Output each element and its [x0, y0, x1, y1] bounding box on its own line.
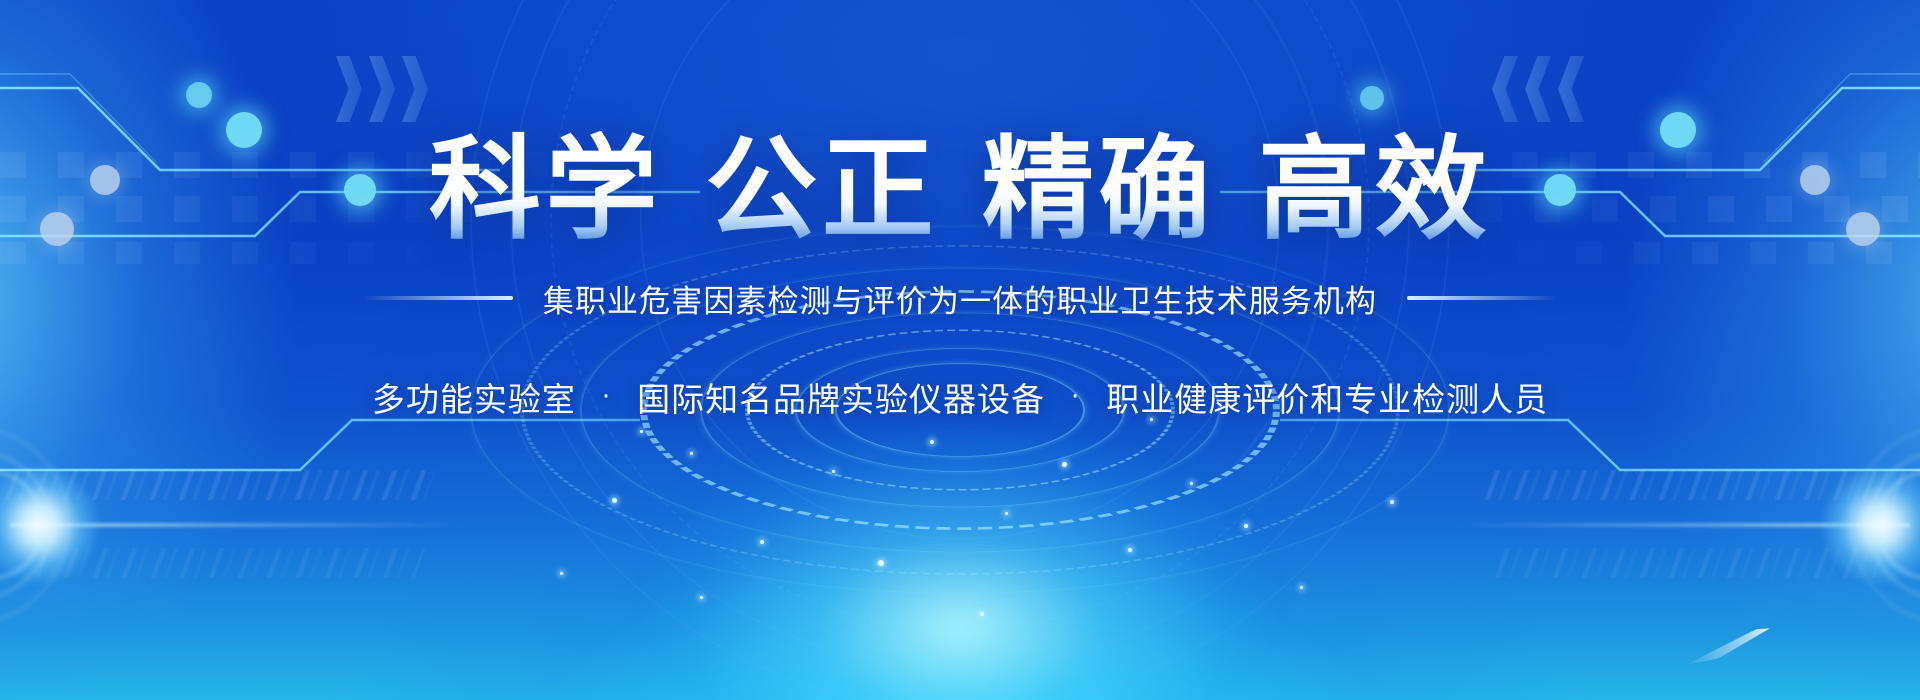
banner-content: 科学 公正 精确 高效 集职业危害因素检测与评价为一体的职业卫生技术服务机构 多…	[0, 0, 1920, 700]
tagline-item-2: 国际知名品牌实验仪器设备	[637, 373, 1045, 421]
subtitle-rule-right	[1407, 296, 1557, 300]
tagline-separator: ·	[602, 382, 611, 412]
banner-subtitle: 集职业危害因素检测与评价为一体的职业卫生技术服务机构	[543, 276, 1377, 321]
hero-banner: 科学 公正 精确 高效 集职业危害因素检测与评价为一体的职业卫生技术服务机构 多…	[0, 0, 1920, 700]
banner-subtitle-row: 集职业危害因素检测与评价为一体的职业卫生技术服务机构	[363, 276, 1557, 321]
subtitle-rule-left	[363, 296, 513, 300]
banner-headline: 科学 公正 精确 高效	[429, 131, 1491, 250]
banner-tagline: 多功能实验室 · 国际知名品牌实验仪器设备 · 职业健康评价和专业检测人员	[372, 373, 1548, 421]
tagline-separator: ·	[1071, 382, 1080, 412]
tagline-item-3: 职业健康评价和专业检测人员	[1106, 373, 1548, 421]
tagline-item-1: 多功能实验室	[372, 373, 576, 421]
